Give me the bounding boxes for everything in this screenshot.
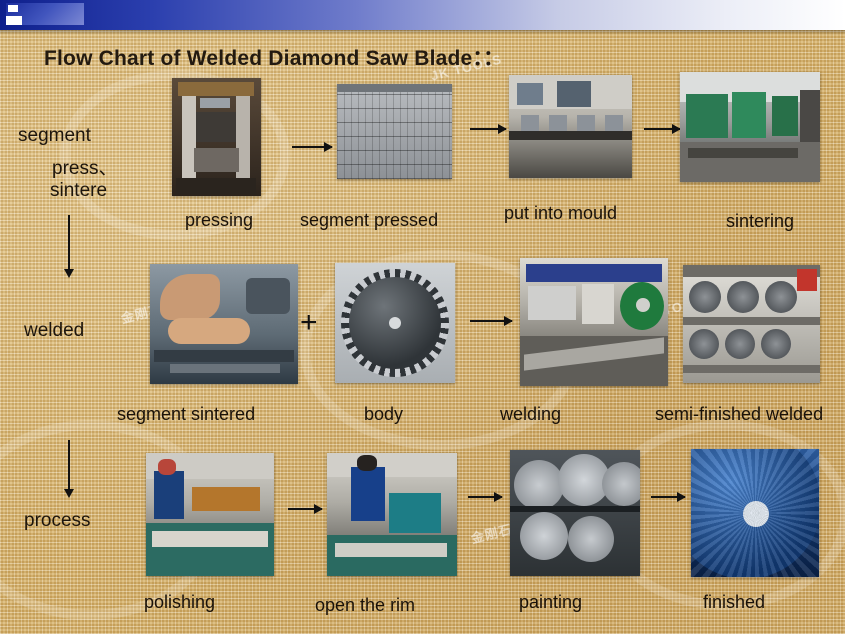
stage-label-process: process [24, 510, 91, 532]
photo-segment-sintered [150, 264, 298, 384]
photo-body [335, 263, 455, 383]
flow-arrow-right-r3-1 [288, 508, 322, 510]
flow-arrow-down-1 [68, 215, 70, 270]
page-title: Flow Chart of Welded Diamond Saw Blade：： [44, 42, 504, 72]
photo-sintering [680, 72, 820, 182]
photo-open-the-rim [327, 453, 457, 576]
caption-body: body [364, 404, 403, 425]
flow-arrow-down-2 [68, 440, 70, 490]
caption-semi-finished-welded: semi-finished welded [655, 404, 823, 425]
stage-label-segment-line1: segment [18, 125, 91, 147]
photo-polishing [146, 453, 274, 576]
caption-pressing: pressing [185, 210, 253, 231]
stage-label-segment-line2: press、 [52, 153, 117, 180]
photo-welding [520, 258, 668, 386]
photo-semi-finished-welded [683, 265, 820, 383]
stage-label-segment-line3: sintere [50, 180, 107, 202]
caption-sintering: sintering [726, 211, 794, 232]
photo-put-into-mould [509, 75, 632, 178]
caption-finished: finished [703, 592, 765, 613]
caption-welding: welding [500, 404, 561, 425]
stage-label-welded: welded [24, 320, 84, 342]
slide-top-bar [0, 0, 845, 30]
caption-open-the-rim: open the rim [315, 595, 415, 616]
flow-arrow-right-r1-1 [292, 146, 332, 148]
flow-arrow-right-r3-3 [651, 496, 685, 498]
logo-block [6, 3, 84, 25]
photo-pressing [172, 78, 261, 196]
flow-arrow-right-r2-1 [470, 320, 512, 322]
slide-canvas: JK TOOLS 金刚石工具 JK TOOLS 金刚石工具 Flow Chart… [0, 0, 845, 634]
photo-finished [691, 449, 819, 577]
flow-arrow-right-r3-2 [468, 496, 502, 498]
plus-connector: + [300, 308, 318, 338]
caption-put-into-mould: put into mould [504, 203, 617, 224]
caption-segment-pressed: segment pressed [300, 210, 438, 231]
caption-polishing: polishing [144, 592, 215, 613]
photo-segment-pressed [337, 84, 452, 179]
flow-arrow-right-r1-2 [470, 128, 506, 130]
top-bar-shadow [0, 30, 845, 35]
photo-painting [510, 450, 640, 576]
caption-segment-sintered: segment sintered [117, 404, 255, 425]
flow-arrow-right-r1-3 [644, 128, 680, 130]
caption-painting: painting [519, 592, 582, 613]
